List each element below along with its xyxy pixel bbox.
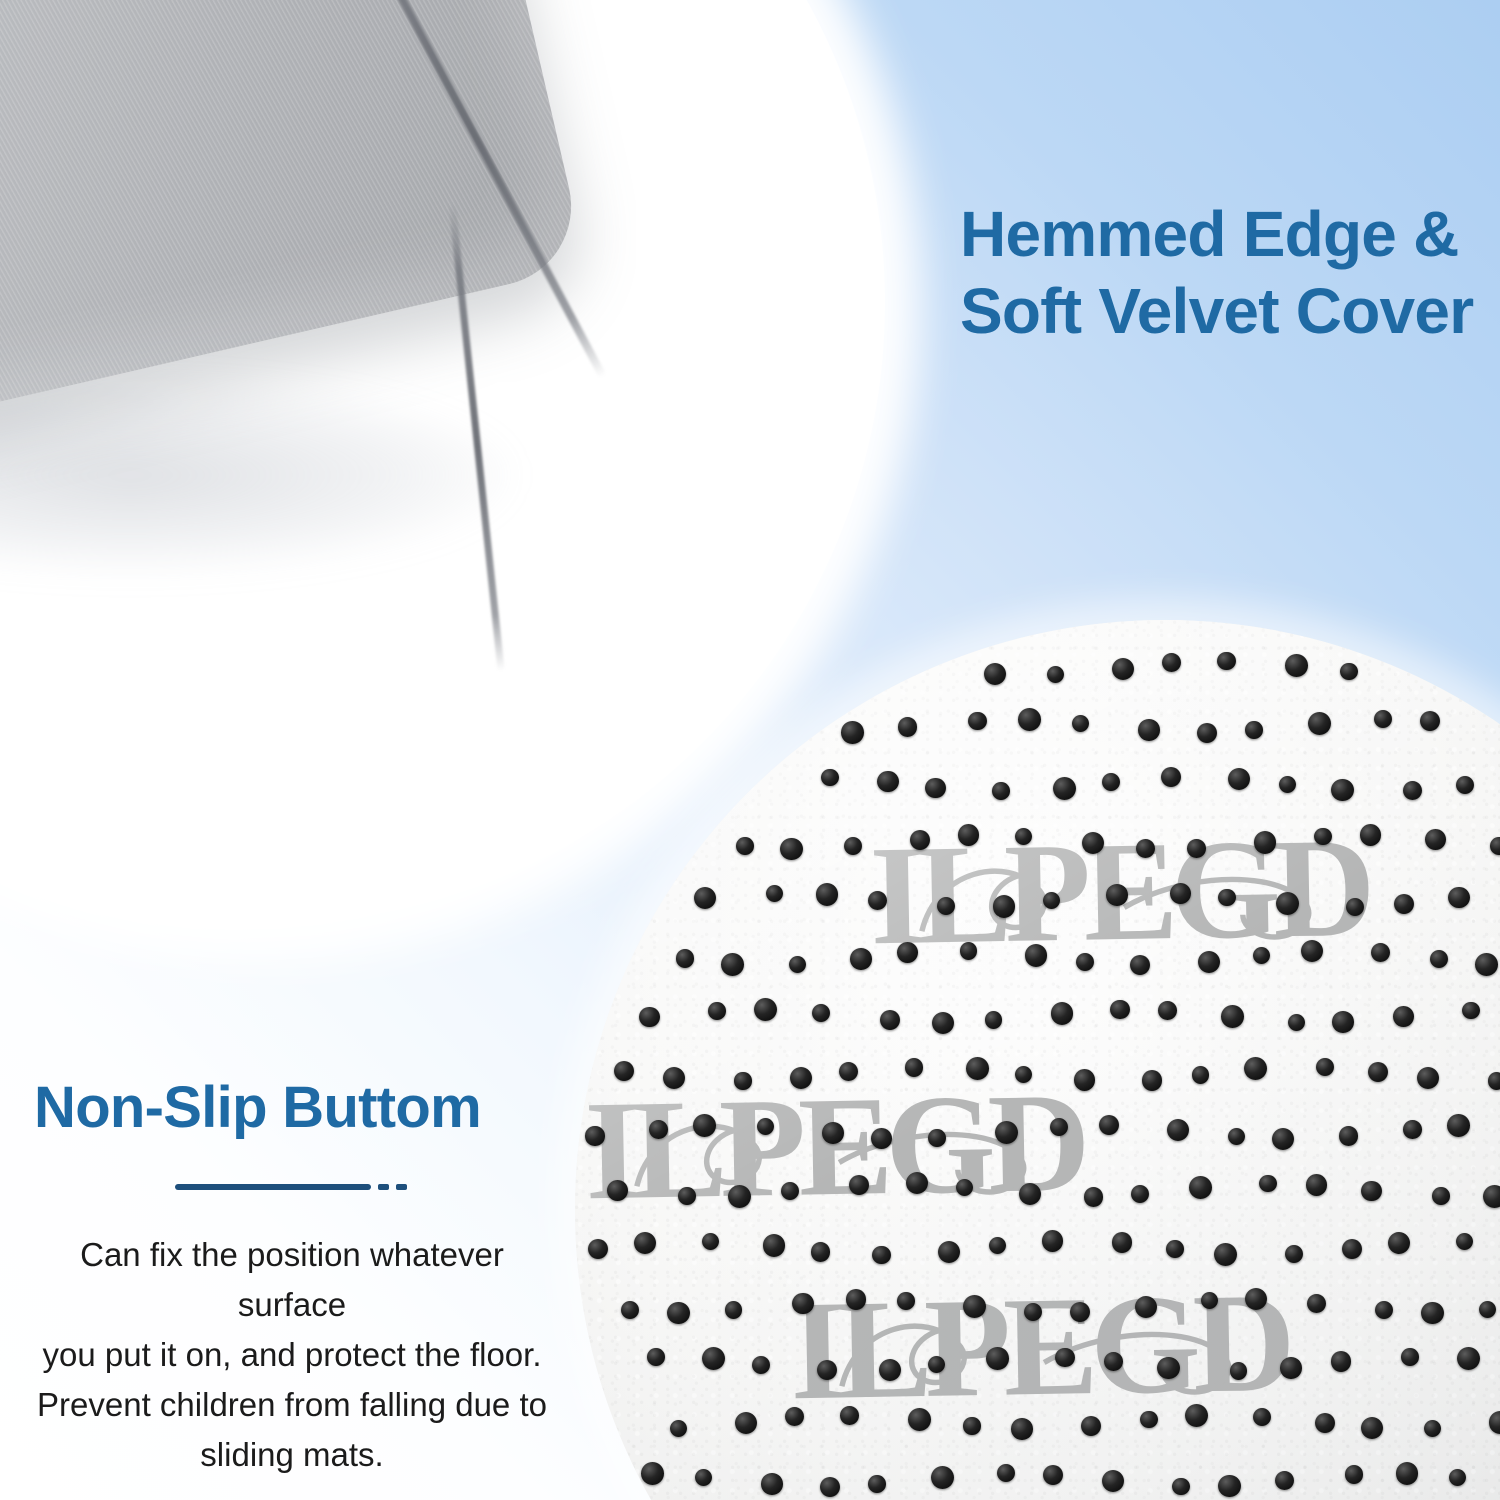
mat-grip-dot (702, 1233, 719, 1250)
mat-grip-dot (1417, 1067, 1439, 1089)
mat-grip-dot (1401, 1348, 1419, 1366)
mat-grip-dot (1043, 1465, 1063, 1485)
feature-block: Non-Slip Buttom Can fix the position wha… (12, 1076, 572, 1481)
mat-grip-dot (663, 1067, 685, 1089)
mat-grip-dot (1360, 824, 1381, 845)
mat-grip-dot (849, 1175, 869, 1195)
mat-grip-dot (984, 663, 1006, 685)
mat-grip-dot (1110, 1000, 1129, 1019)
mat-grip-dot (1339, 1126, 1358, 1145)
mat-grip-dot (1449, 1469, 1466, 1486)
mat-grip-dot (1448, 887, 1470, 909)
mat-grip-dot (905, 1058, 924, 1077)
mat-grip-dot (821, 769, 838, 786)
mat-grip-dot (992, 782, 1010, 800)
mat-grip-dot (1072, 715, 1089, 732)
mat-grip-dot (1167, 1119, 1189, 1141)
mat-grip-dot (1332, 1011, 1353, 1032)
mat-grip-dot (963, 1417, 980, 1434)
mat-grip-dot (877, 771, 898, 792)
mat-grip-dot (1198, 951, 1220, 973)
mat-grip-dot (676, 949, 695, 968)
mat-grip-dot (871, 1128, 892, 1149)
mat-grip-dot (752, 1356, 770, 1374)
mat-grip-dot (816, 883, 839, 906)
cushion-contact-shadow (0, 380, 510, 570)
mat-grip-dot (960, 942, 978, 960)
mat-grip-dot (1187, 839, 1206, 858)
mat-grip-dot (728, 1185, 751, 1208)
mat-grip-dot (1361, 1417, 1383, 1439)
mat-grip-dot (1230, 1362, 1247, 1379)
mat-grip-dot (1019, 1183, 1041, 1205)
mat-grip-dot (1314, 828, 1331, 845)
mat-grip-dot (1456, 1233, 1473, 1250)
mat-grip-dot (1138, 719, 1159, 740)
mat-grip-dot (1025, 944, 1048, 967)
mat-grip-dot (844, 837, 862, 855)
mat-grip-dot (1403, 781, 1422, 800)
mat-grip-dot (822, 1122, 843, 1143)
mat-grip-dot (1490, 837, 1500, 855)
mat-grip-dot (1201, 1292, 1218, 1309)
mat-grip-dot (841, 721, 864, 744)
mat-grip-dot (735, 1412, 757, 1434)
mat-grip-dot (1245, 721, 1263, 739)
mat-grip-dot (1170, 883, 1191, 904)
mat-grip-dot (588, 1239, 608, 1259)
mat-grip-dot (925, 778, 946, 799)
mat-grip-dot (956, 1179, 973, 1196)
mat-grip-dot (868, 1475, 886, 1493)
mat-grip-dot (1130, 955, 1150, 975)
mat-grip-dot (1488, 1072, 1500, 1089)
mat-grip-dot (1142, 1070, 1163, 1091)
feature-description: Can fix the position whatever surface yo… (12, 1230, 572, 1481)
mat-grip-dot (1342, 1239, 1362, 1259)
mat-grip-dot (693, 1114, 716, 1137)
mat-grip-dot (634, 1232, 656, 1254)
divider-rule (175, 1184, 371, 1190)
mat-grip-dot (1306, 1174, 1327, 1195)
mat-grip-dot (1424, 1420, 1441, 1437)
mat-grip-dot (708, 1002, 726, 1020)
mat-grip-dot (1228, 1128, 1245, 1145)
feature-title: Non-Slip Buttom (12, 1076, 572, 1140)
mat-grip-dot (781, 1182, 799, 1200)
mat-grip-dot (995, 1121, 1018, 1144)
mat-grip-dot (1361, 1181, 1382, 1202)
mat-grip-dot (985, 1011, 1002, 1028)
mat-grip-dot (754, 998, 777, 1021)
mat-grip-dot (678, 1187, 696, 1205)
feature-body-line-4: sliding mats. (26, 1430, 558, 1480)
mat-grip-dot (1462, 1002, 1480, 1020)
feature-body-line-2: you put it on, and protect the floor. (26, 1330, 558, 1380)
mat-grip-dot (734, 1072, 751, 1089)
headline-line-2: Soft Velvet Cover (960, 273, 1480, 350)
headline: Hemmed Edge & Soft Velvet Cover (960, 196, 1480, 350)
mat-grip-dot (1218, 1475, 1240, 1497)
mat-grip-dot (647, 1348, 665, 1366)
mat-grip-dot (846, 1289, 867, 1310)
mat-grip-dot (993, 895, 1016, 918)
mat-grip-dot (968, 712, 987, 731)
mat-grip-dot (725, 1301, 742, 1318)
mat-grip-dot (639, 1007, 660, 1028)
mat-grip-dot (1280, 1357, 1301, 1378)
mat-grip-dot (1051, 1002, 1073, 1024)
feature-body-line-3: Prevent children from falling due to (26, 1380, 558, 1430)
mat-grip-dot (1228, 768, 1250, 790)
mat-grip-dot (766, 885, 783, 902)
mat-grip-dot (1140, 1411, 1158, 1429)
mat-grip-dot (932, 1012, 954, 1034)
mat-grip-dot (736, 837, 754, 855)
mat-grip-dot (897, 1292, 915, 1310)
mat-grip-dot (898, 717, 917, 736)
mat-grip-dot (1457, 1347, 1480, 1370)
mat-grip-dot (1285, 654, 1308, 677)
mat-grip-dot (1388, 1232, 1410, 1254)
mat-grip-dot (1172, 1478, 1189, 1495)
mat-grip-dot (1055, 1348, 1074, 1367)
mat-grip-dot (1483, 1185, 1500, 1208)
mat-grip-dot (1346, 898, 1364, 916)
infographic-canvas: ILPEGD ILPEGD ILPEGD Hemmed Edge & S (0, 0, 1500, 1500)
mat-grip-dot (1432, 1187, 1450, 1205)
mat-grip-dot (811, 1242, 830, 1261)
mat-grip-dot (1189, 1176, 1212, 1199)
mat-grip-dot (1158, 1001, 1177, 1020)
mat-grip-dot (850, 948, 871, 969)
mat-grip-dot (1102, 773, 1120, 791)
mat-grip-dot (1420, 711, 1440, 731)
mat-grip-dot (641, 1462, 664, 1485)
mat-grip-dot (880, 1010, 900, 1030)
mat-grip-dot (1076, 953, 1094, 971)
mat-grip-dot (721, 953, 744, 976)
mat-grip-dot (649, 1120, 668, 1139)
feature-body-line-1: Can fix the position whatever surface (26, 1230, 558, 1330)
divider-tick (396, 1184, 407, 1190)
mat-grip-dot (761, 1473, 782, 1494)
mat-grip-dot (840, 1406, 859, 1425)
mat-grip-dot (585, 1126, 604, 1145)
mat-grip-dot (1259, 1175, 1276, 1192)
mat-grip-dot (1166, 1240, 1184, 1258)
mat-grip-dot (1053, 777, 1076, 800)
mat-grip-dot (1106, 884, 1127, 905)
mat-grip-dot (670, 1420, 687, 1437)
mat-grip-dot (986, 1347, 1008, 1369)
mat-grip-dot (868, 891, 887, 910)
mat-grip-dot (839, 1062, 858, 1081)
mat-grip-dot (1307, 1294, 1326, 1313)
divider-tick (378, 1184, 389, 1190)
feature-divider (175, 1184, 407, 1190)
mat-grip-dot (1340, 663, 1357, 680)
mat-grip-dot (1018, 708, 1041, 731)
mat-grip-dot (1047, 666, 1064, 683)
mat-grip-dot (1447, 1114, 1470, 1137)
mat-grip-dot (1135, 1296, 1157, 1318)
mat-grip-dot (1185, 1404, 1208, 1427)
mat-grip-dot (1393, 1006, 1414, 1027)
mat-grip-dot (872, 1246, 891, 1265)
headline-line-1: Hemmed Edge & (960, 196, 1480, 273)
mat-grip-dot (1285, 1245, 1303, 1263)
mat-grip-dot (1011, 1418, 1032, 1439)
mat-photo-circle: ILPEGD ILPEGD ILPEGD (575, 620, 1500, 1500)
mat-grip-dot (1368, 1062, 1388, 1082)
mat-grip-dot (792, 1293, 813, 1314)
mat-grip-dot (906, 1172, 928, 1194)
mat-grip-dot (1104, 1352, 1123, 1371)
mat-grip-dot (1475, 953, 1498, 976)
mat-grip-dot (1394, 894, 1414, 914)
mat-grip-dot (1331, 1351, 1352, 1372)
mat-grip-dot (667, 1302, 690, 1325)
mat-grip-dot (1050, 1118, 1068, 1136)
mat-grip-dot (1218, 889, 1236, 907)
mat-grip-dot (928, 1129, 946, 1147)
mat-grip-dot (1253, 1408, 1271, 1426)
mat-grip-dot (763, 1234, 785, 1256)
mat-grip-dot (1084, 1187, 1103, 1206)
mat-grip-dot (817, 1360, 837, 1380)
mat-grip-dot (966, 1057, 989, 1080)
mat-grip-dot (910, 830, 930, 850)
mat-grip-dot (1403, 1120, 1422, 1139)
mat-grip-dot (931, 1466, 954, 1489)
mat-grip-dot (1214, 1243, 1237, 1266)
mat-grip-dot (1425, 829, 1446, 850)
mat-grip-dot (695, 1469, 712, 1486)
mat-grip-dot (908, 1408, 931, 1431)
mat-grip-dot (1192, 1066, 1210, 1084)
mat-grip-dot (1074, 1069, 1095, 1090)
mat-grip-dot (1396, 1462, 1419, 1485)
mat-grip-dot (694, 887, 716, 909)
mat-grip-dot (1288, 1014, 1305, 1031)
